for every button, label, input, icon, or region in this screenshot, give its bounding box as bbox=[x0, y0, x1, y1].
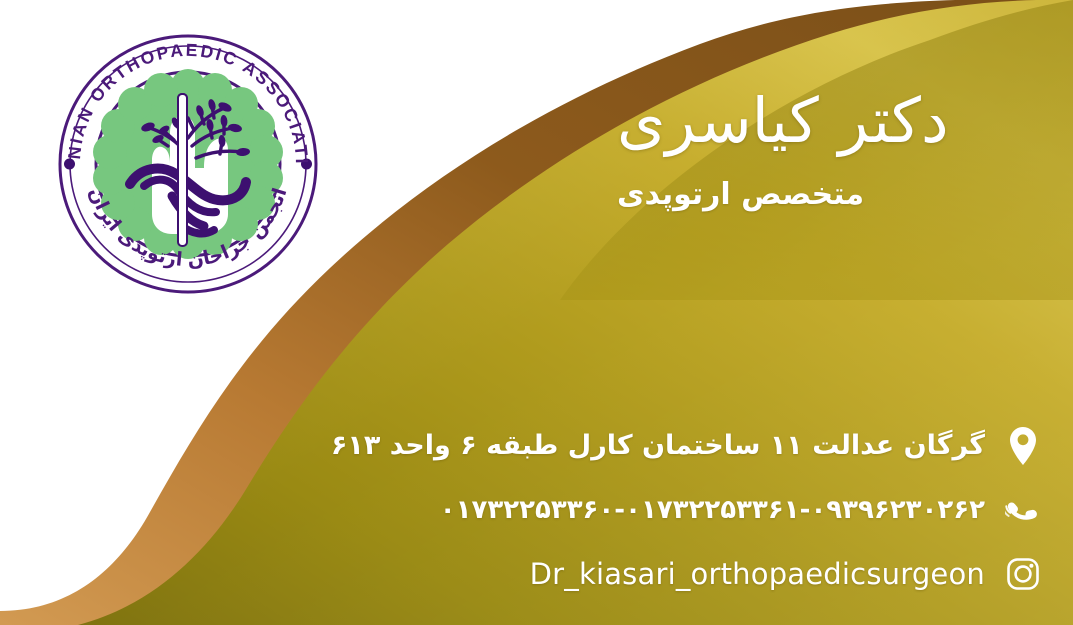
logo-dot-left bbox=[64, 159, 75, 170]
instagram-handle[interactable]: Dr_kiasari_orthopaedicsurgeon bbox=[530, 556, 985, 592]
contact-list: گرگان عدالت ۱۱ ساختمان کارل طبقه ۶ واحد … bbox=[33, 423, 1043, 597]
contact-row-phone: ۰۱۷۳۲۲۵۳۳۶۰-۰۱۷۳۲۲۵۳۳۶۱-۰۹۳۹۶۲۳۰۲۶۲ bbox=[33, 487, 1043, 533]
business-card: IRANIAN ORTHOPAEDIC ASSOCIATION انجمن جر… bbox=[0, 0, 1073, 625]
doctor-specialty: متخصص ارتوپدی bbox=[617, 177, 1037, 213]
phone-icon bbox=[1003, 488, 1043, 532]
doctor-name: دکتر کیاسری bbox=[617, 88, 1037, 155]
association-logo-mark: IRANIAN ORTHOPAEDIC ASSOCIATION انجمن جر… bbox=[52, 28, 324, 300]
contact-row-instagram[interactable]: Dr_kiasari_orthopaedicsurgeon bbox=[33, 551, 1043, 597]
phone-text: ۰۱۷۳۲۲۵۳۳۶۰-۰۱۷۳۲۲۵۳۳۶۱-۰۹۳۹۶۲۳۰۲۶۲ bbox=[440, 494, 985, 527]
logo-staff bbox=[178, 94, 187, 246]
association-logo: IRANIAN ORTHOPAEDIC ASSOCIATION انجمن جر… bbox=[52, 28, 324, 300]
contact-row-address: گرگان عدالت ۱۱ ساختمان کارل طبقه ۶ واحد … bbox=[33, 423, 1043, 469]
address-text: گرگان عدالت ۱۱ ساختمان کارل طبقه ۶ واحد … bbox=[331, 429, 985, 463]
identity-block: دکتر کیاسری متخصص ارتوپدی bbox=[617, 88, 1037, 213]
instagram-icon[interactable] bbox=[1003, 552, 1043, 596]
location-pin-icon bbox=[1003, 424, 1043, 468]
